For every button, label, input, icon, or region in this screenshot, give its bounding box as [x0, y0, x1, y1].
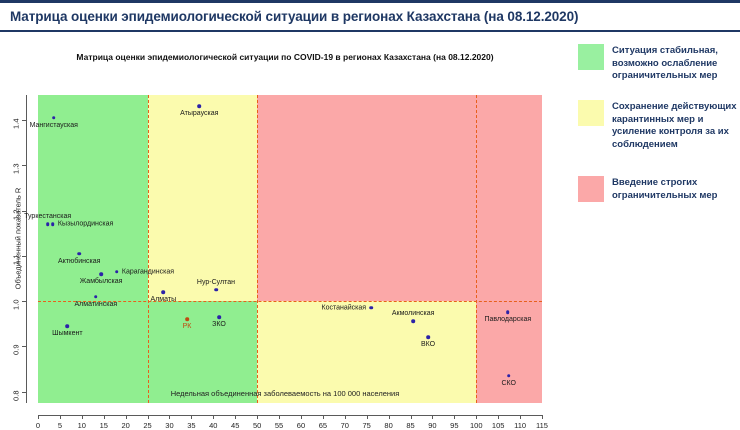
data-point-2[interactable] — [46, 222, 50, 226]
x-tick-label-60: 60 — [297, 421, 305, 430]
x-tick-label-95: 95 — [450, 421, 458, 430]
y-tick-0-9 — [22, 346, 26, 347]
legend-item-yellow: Сохранение действующих карантинных мер и… — [578, 100, 740, 151]
x-tick-10 — [82, 415, 83, 419]
data-point-11[interactable] — [185, 317, 189, 321]
data-point-label-5: Жамбылская — [80, 278, 123, 285]
data-point-label-10: Шымкент — [52, 330, 82, 337]
x-tick-65 — [323, 415, 324, 419]
data-point-12[interactable] — [217, 315, 221, 319]
zone-patch-green-below-R1 — [148, 301, 258, 403]
x-tick-label-70: 70 — [341, 421, 349, 430]
x-tick-80 — [389, 415, 390, 419]
x-axis-title: Недельная объединенная заболеваемость на… — [0, 389, 570, 398]
header-bar: Матрица оценки эпидемиологической ситуац… — [0, 0, 740, 32]
zone-band-green — [38, 95, 148, 403]
threshold-vline-50 — [257, 95, 258, 403]
data-point-label-0: Мангистауская — [30, 122, 78, 129]
x-tick-70 — [345, 415, 346, 419]
x-tick-55 — [279, 415, 280, 419]
data-point-14[interactable] — [411, 320, 415, 324]
threshold-vline-100 — [476, 95, 477, 403]
threshold-vline-25 — [148, 95, 149, 403]
x-tick-30 — [169, 415, 170, 419]
y-tick-label-1-4: 1.4 — [12, 118, 21, 158]
x-tick-0 — [38, 415, 39, 419]
x-tick-label-80: 80 — [384, 421, 392, 430]
data-point-7[interactable] — [94, 295, 98, 299]
x-tick-label-115: 115 — [536, 421, 548, 430]
x-tick-75 — [367, 415, 368, 419]
x-tick-35 — [191, 415, 192, 419]
data-point-label-16: Павлодарская — [484, 316, 531, 323]
data-point-13[interactable] — [369, 306, 373, 310]
x-tick-60 — [301, 415, 302, 419]
x-tick-105 — [498, 415, 499, 419]
y-tick-label-0-9: 0.9 — [12, 345, 21, 385]
data-point-8[interactable] — [162, 290, 166, 294]
x-tick-label-40: 40 — [209, 421, 217, 430]
y-tick-1-4 — [22, 120, 26, 121]
data-point-label-12: ЗКО — [212, 321, 226, 328]
legend-swatch-red-icon — [578, 176, 604, 202]
legend: Ситуация стабильная, возможно ослабление… — [578, 44, 740, 244]
chart-title: Матрица оценки эпидемиологической ситуац… — [0, 52, 570, 62]
x-tick-115 — [542, 415, 543, 419]
zone-patch-yellow-below-R1 — [257, 301, 476, 403]
data-point-label-14: Акмолинская — [392, 310, 435, 317]
x-tick-85 — [411, 415, 412, 419]
x-tick-45 — [235, 415, 236, 419]
data-point-label-4: Актюбинская — [58, 258, 100, 265]
data-point-9[interactable] — [214, 288, 218, 292]
x-tick-label-85: 85 — [406, 421, 414, 430]
data-point-label-17: СКО — [501, 380, 516, 387]
data-point-1[interactable] — [197, 105, 201, 109]
legend-label-green: Ситуация стабильная, возможно ослабление… — [612, 44, 740, 83]
y-tick-1 — [22, 301, 26, 302]
x-tick-5 — [60, 415, 61, 419]
data-point-17[interactable] — [507, 374, 511, 378]
y-axis-title: Объединенный показатель R — [14, 169, 23, 309]
data-point-label-6: Карагандинская — [122, 268, 174, 275]
y-tick-1-1 — [22, 256, 26, 257]
x-tick-label-0: 0 — [36, 421, 40, 430]
data-point-label-7: Алматинская — [75, 301, 118, 308]
data-point-15[interactable] — [426, 336, 430, 340]
x-tick-90 — [432, 415, 433, 419]
legend-label-yellow: Сохранение действующих карантинных мер и… — [612, 100, 740, 151]
x-tick-label-110: 110 — [514, 421, 526, 430]
x-tick-label-25: 25 — [143, 421, 151, 430]
y-tick-1-2 — [22, 211, 26, 212]
x-tick-label-5: 5 — [58, 421, 62, 430]
plot-area: 0510152025303540455055606570758085909510… — [38, 95, 542, 403]
x-tick-label-100: 100 — [470, 421, 483, 430]
x-tick-15 — [104, 415, 105, 419]
x-tick-label-35: 35 — [187, 421, 195, 430]
data-point-label-13: Костанайская — [322, 304, 367, 311]
x-tick-25 — [148, 415, 149, 419]
data-point-10[interactable] — [66, 324, 70, 328]
x-tick-50 — [257, 415, 258, 419]
x-tick-20 — [126, 415, 127, 419]
data-point-0[interactable] — [52, 116, 56, 120]
x-tick-label-75: 75 — [363, 421, 371, 430]
x-tick-label-20: 20 — [121, 421, 129, 430]
x-tick-110 — [520, 415, 521, 419]
legend-swatch-green-icon — [578, 44, 604, 70]
data-point-6[interactable] — [115, 270, 119, 274]
x-tick-label-30: 30 — [165, 421, 173, 430]
data-point-label-9: Нур-Султан — [197, 279, 235, 286]
data-point-label-1: Атырауская — [180, 110, 218, 117]
legend-item-green: Ситуация стабильная, возможно ослабление… — [578, 44, 740, 83]
data-point-label-2: Туркестанская — [24, 213, 71, 220]
x-tick-label-50: 50 — [253, 421, 261, 430]
data-point-5[interactable] — [99, 272, 103, 276]
x-tick-label-90: 90 — [428, 421, 436, 430]
x-tick-40 — [213, 415, 214, 419]
x-tick-100 — [476, 415, 477, 419]
data-point-label-3: Кызылординская — [58, 221, 113, 228]
x-tick-95 — [454, 415, 455, 419]
x-tick-label-105: 105 — [492, 421, 505, 430]
data-point-3[interactable] — [51, 222, 55, 226]
x-tick-label-65: 65 — [319, 421, 327, 430]
y-axis-line — [26, 95, 27, 403]
data-point-4[interactable] — [77, 252, 81, 256]
data-point-label-15: ВКО — [421, 341, 435, 348]
y-tick-1-3 — [22, 165, 26, 166]
x-tick-label-10: 10 — [78, 421, 86, 430]
legend-label-red: Введение строгих ограничительных мер — [612, 176, 740, 202]
data-point-16[interactable] — [506, 311, 510, 315]
page-title: Матрица оценки эпидемиологической ситуац… — [10, 9, 578, 24]
x-tick-label-45: 45 — [231, 421, 239, 430]
x-tick-label-15: 15 — [100, 421, 108, 430]
x-tick-label-55: 55 — [275, 421, 283, 430]
data-point-label-8: Алматы — [151, 296, 177, 303]
legend-swatch-yellow-icon — [578, 100, 604, 126]
chart-panel: Матрица оценки эпидемиологической ситуац… — [0, 34, 570, 409]
data-point-label-11: РК — [183, 323, 192, 330]
legend-item-red: Введение строгих ограничительных мер — [578, 176, 740, 202]
x-axis-line — [38, 415, 542, 416]
